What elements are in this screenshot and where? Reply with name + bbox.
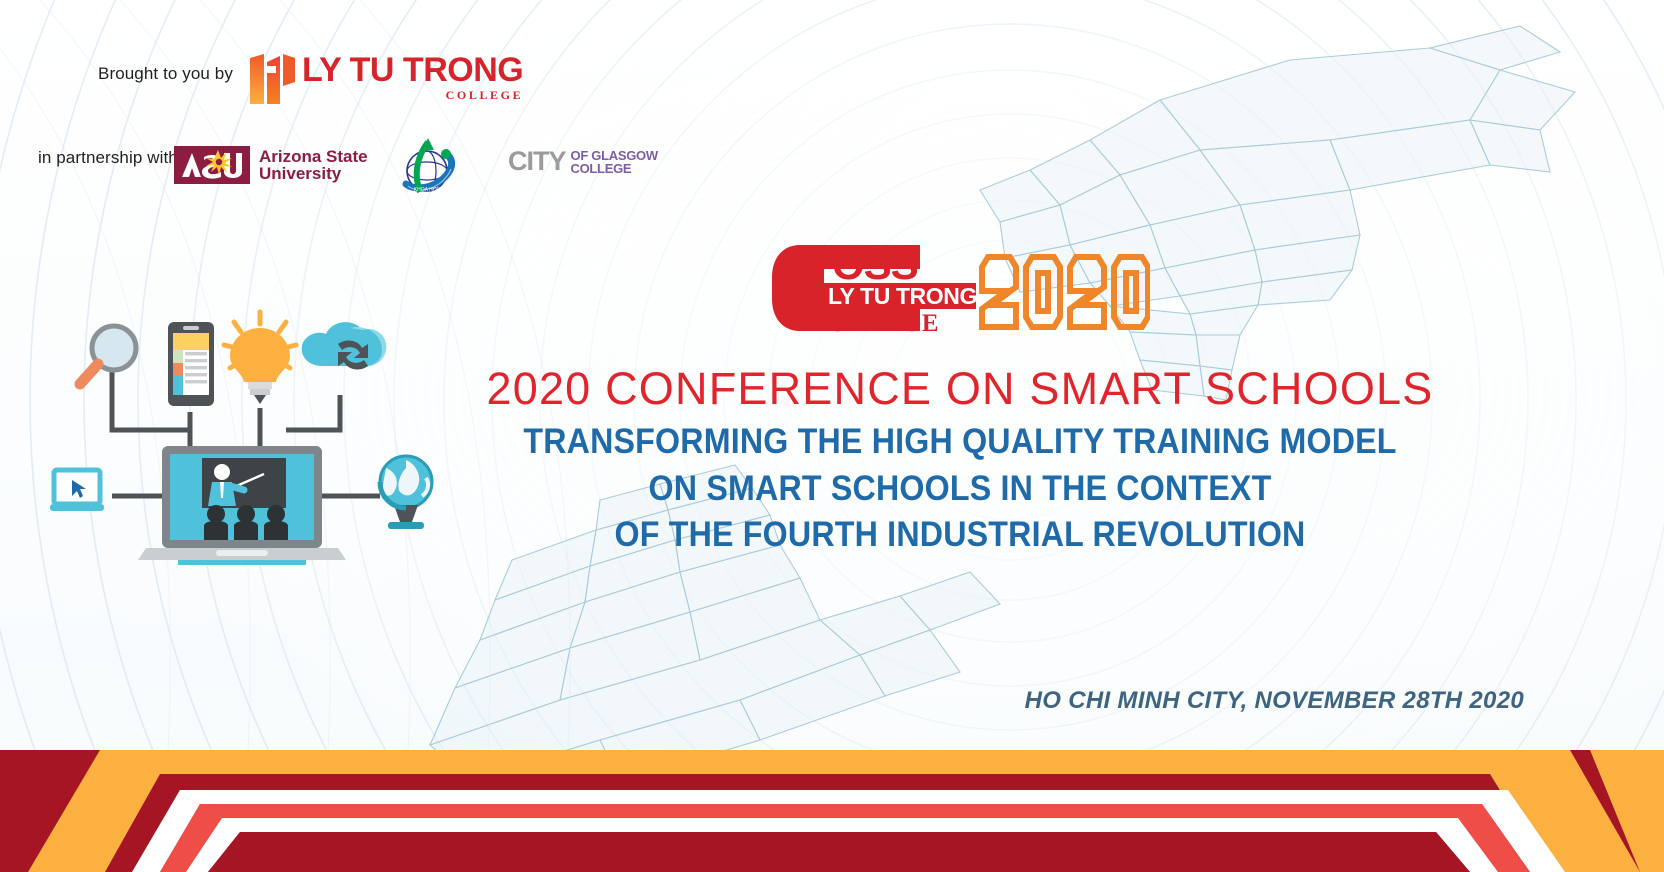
coss-2020-logo: OSS LY TU TRONG OLLEGE (770, 243, 1150, 333)
ly-tu-trong-subtitle: COLLEGE (302, 88, 523, 102)
subtitle-line-1: TRANSFORMING THE HIGH QUALITY TRAINING M… (399, 422, 1521, 462)
asu-name-line2: University (259, 165, 368, 182)
subtitle-line-2: ON SMART SCHOOLS IN THE CONTEXT (399, 469, 1521, 509)
ly-tu-trong-college-logo: LY TU TRONG COLLEGE (248, 52, 523, 106)
ly-tu-trong-name: LY TU TRONG (302, 52, 523, 88)
globe-icon (380, 456, 432, 529)
asu-name-line1: Arizona State (259, 148, 368, 165)
page-title: 2020 CONFERENCE ON SMART SCHOOLS (390, 363, 1530, 415)
e-learning-illustration (50, 300, 440, 565)
event-location-date: HO CHI MINH CITY, NOVEMBER 28TH 2020 (1025, 687, 1524, 715)
asu-mark-icon (174, 146, 250, 184)
coss-college-text: OLLEGE (828, 310, 940, 333)
magnifier-icon (80, 326, 136, 384)
coss-banner-text: LY TU TRONG (828, 283, 977, 309)
bottom-decorative-bar (0, 722, 1664, 872)
cloud-sync-icon (302, 322, 387, 369)
brought-to-you-by-label: Brought to you by (98, 64, 233, 84)
coss-acronym: OSS (832, 243, 918, 288)
smartphone-icon (168, 322, 214, 406)
science-technology-globe-icon: KHOA HOC (394, 136, 458, 198)
cgc-college: COLLEGE (571, 162, 658, 175)
in-partnership-with-label: in partnership with (38, 148, 178, 168)
city-of-glasgow-college-logo: CITY OF GLASGOW COLLEGE (508, 148, 658, 175)
svg-text:KHOA HOC: KHOA HOC (414, 187, 441, 193)
in-partnership-with-row: in partnership with (38, 148, 178, 168)
cgc-city-word: CITY (508, 148, 566, 175)
subtitle-line-3: OF THE FOURTH INDUSTRIAL REVOLUTION (399, 515, 1521, 555)
brought-to-you-by-row: Brought to you by (98, 64, 233, 84)
laptop-classroom-icon (138, 446, 346, 565)
lightbulb-icon (224, 312, 296, 404)
cgc-of-glasgow: OF GLASGOW (571, 149, 658, 162)
ly-tu-trong-mark-icon (248, 52, 296, 106)
laptop-cursor-icon (50, 470, 104, 511)
arizona-state-university-logo: Arizona State University (174, 146, 368, 184)
